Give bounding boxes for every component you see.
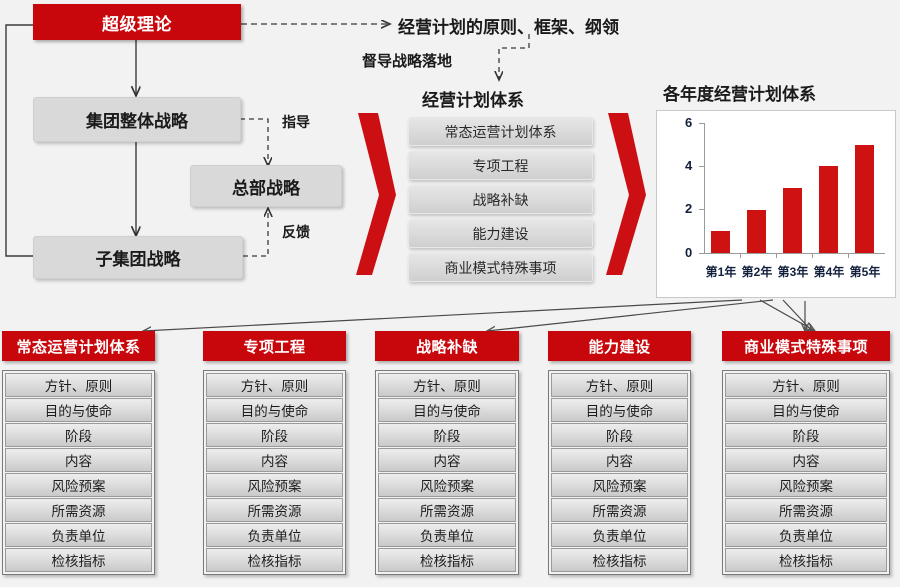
column-row[interactable]: 方针、原则: [725, 373, 887, 397]
column-row-label: 方针、原则: [586, 375, 654, 395]
column-row-label: 风险预案: [593, 475, 647, 495]
column-row-label: 负责单位: [420, 525, 474, 545]
column-row-label: 风险预案: [779, 475, 833, 495]
y-tick-mark: [699, 209, 704, 210]
column-row[interactable]: 所需资源: [551, 498, 688, 522]
plan-item[interactable]: 商业模式特殊事项: [408, 253, 593, 282]
column-row[interactable]: 所需资源: [378, 498, 516, 522]
column-row[interactable]: 目的与使命: [5, 398, 152, 422]
column-row[interactable]: 方针、原则: [206, 373, 343, 397]
column-header-label: 能力建设: [588, 336, 650, 357]
column-row-label: 检核指标: [248, 550, 302, 570]
super-theory-box[interactable]: 超级理论: [33, 4, 241, 40]
column-row[interactable]: 目的与使命: [206, 398, 343, 422]
column-row-label: 负责单位: [248, 525, 302, 545]
y-tick-label: 2: [685, 201, 692, 216]
hq-strategy-label: 总部战略: [232, 174, 300, 199]
column-header-label: 商业模式特殊事项: [744, 336, 868, 357]
column-row-label: 负责单位: [593, 525, 647, 545]
detail-column-0: 常态运营计划体系 方针、原则 目的与使命 阶段 内容 风险预案 所需资源 负责单…: [2, 331, 155, 575]
plan-system-title: 经营计划体系: [422, 86, 524, 111]
y-tick-mark: [699, 253, 704, 254]
column-row-label: 所需资源: [779, 500, 833, 520]
column-row-label: 负责单位: [52, 525, 106, 545]
y-tick-label: 6: [685, 115, 692, 130]
column-row[interactable]: 阶段: [378, 423, 516, 447]
column-row[interactable]: 检核指标: [378, 548, 516, 572]
column-row[interactable]: 方针、原则: [551, 373, 688, 397]
column-row[interactable]: 所需资源: [725, 498, 887, 522]
plan-item-label: 常态运营计划体系: [445, 122, 557, 142]
column-row-label: 所需资源: [248, 500, 302, 520]
x-tick-label: 第1年: [703, 263, 739, 280]
column-row-label: 阶段: [261, 425, 288, 445]
column-row[interactable]: 目的与使命: [378, 398, 516, 422]
chart-title: 各年度经营计划体系: [663, 80, 816, 105]
x-tick-label: 第3年: [775, 263, 811, 280]
column-row-label: 内容: [793, 450, 820, 470]
column-header[interactable]: 专项工程: [203, 331, 346, 361]
bar-year-2: [747, 210, 766, 253]
column-row[interactable]: 风险预案: [206, 473, 343, 497]
column-row-label: 阶段: [793, 425, 820, 445]
y-tick-label: 4: [685, 158, 692, 173]
y-tick-label: 0: [685, 245, 692, 260]
column-row[interactable]: 检核指标: [725, 548, 887, 572]
x-tick-label: 第5年: [847, 263, 883, 280]
column-header[interactable]: 战略补缺: [375, 331, 519, 361]
column-row[interactable]: 风险预案: [378, 473, 516, 497]
plan-item-label: 商业模式特殊事项: [445, 258, 557, 278]
column-row[interactable]: 内容: [551, 448, 688, 472]
column-body: 方针、原则 目的与使命 阶段 内容 风险预案 所需资源 负责单位 检核指标: [2, 370, 155, 575]
x-tick-label: 第4年: [811, 263, 847, 280]
column-row[interactable]: 风险预案: [5, 473, 152, 497]
column-header-label: 常态运营计划体系: [16, 336, 140, 357]
detail-column-1: 专项工程 方针、原则 目的与使命 阶段 内容 风险预案 所需资源 负责单位 检核…: [203, 331, 346, 575]
plan-item[interactable]: 专项工程: [408, 151, 593, 180]
diagram-canvas: 超级理论 经营计划的原则、框架、纲领 督导战略落地 经营计划体系 集团整体战略 …: [0, 0, 900, 587]
guide-label: 指导: [282, 112, 310, 132]
column-body: 方针、原则 目的与使命 阶段 内容 风险预案 所需资源 负责单位 检核指标: [722, 370, 890, 575]
column-row-label: 方针、原则: [772, 375, 840, 395]
column-header-label: 战略补缺: [416, 336, 478, 357]
column-row-label: 检核指标: [593, 550, 647, 570]
x-axis-line: [704, 253, 885, 254]
supervise-text: 督导战略落地: [362, 50, 452, 71]
column-row-label: 负责单位: [779, 525, 833, 545]
x-tick-mark: [848, 254, 849, 258]
column-row-label: 目的与使命: [772, 400, 840, 420]
column-row-label: 阶段: [434, 425, 461, 445]
principle-text: 经营计划的原则、框架、纲领: [398, 13, 619, 38]
y-tick-mark: [699, 123, 704, 124]
hq-strategy-box[interactable]: 总部战略: [190, 165, 342, 207]
column-row[interactable]: 内容: [5, 448, 152, 472]
column-row[interactable]: 目的与使命: [725, 398, 887, 422]
plan-item-label: 能力建设: [473, 224, 529, 244]
plan-items-list: 常态运营计划体系 专项工程 战略补缺 能力建设 商业模式特殊事项: [408, 117, 591, 282]
detail-column-2: 战略补缺 方针、原则 目的与使命 阶段 内容 风险预案 所需资源 负责单位 检核…: [375, 331, 519, 575]
group-strategy-label: 集团整体战略: [86, 107, 188, 132]
plan-item-label: 战略补缺: [473, 190, 529, 210]
plan-item[interactable]: 战略补缺: [408, 185, 593, 214]
column-row[interactable]: 风险预案: [725, 473, 887, 497]
column-row-label: 方针、原则: [241, 375, 309, 395]
column-body: 方针、原则 目的与使命 阶段 内容 风险预案 所需资源 负责单位 检核指标: [548, 370, 691, 575]
column-header[interactable]: 商业模式特殊事项: [722, 331, 890, 361]
column-row-label: 目的与使命: [241, 400, 309, 420]
column-row-label: 风险预案: [52, 475, 106, 495]
column-row[interactable]: 负责单位: [725, 523, 887, 547]
column-row-label: 内容: [606, 450, 633, 470]
column-row[interactable]: 内容: [378, 448, 516, 472]
column-row-label: 风险预案: [420, 475, 474, 495]
column-row-label: 阶段: [65, 425, 92, 445]
column-row-label: 目的与使命: [413, 400, 481, 420]
column-row[interactable]: 阶段: [725, 423, 887, 447]
column-row[interactable]: 检核指标: [206, 548, 343, 572]
plan-item-label: 专项工程: [473, 156, 529, 176]
x-tick-mark: [812, 254, 813, 258]
bar-year-4: [819, 166, 838, 253]
y-tick-mark: [699, 166, 704, 167]
y-axis-line: [704, 123, 705, 254]
column-row[interactable]: 检核指标: [5, 548, 152, 572]
column-row[interactable]: 负责单位: [5, 523, 152, 547]
column-row[interactable]: 检核指标: [551, 548, 688, 572]
column-body: 方针、原则 目的与使命 阶段 内容 风险预案 所需资源 负责单位 检核指标: [375, 370, 519, 575]
plan-item[interactable]: 能力建设: [408, 219, 593, 248]
plan-item[interactable]: 常态运营计划体系: [408, 117, 593, 146]
column-row-label: 风险预案: [248, 475, 302, 495]
column-row-label: 检核指标: [420, 550, 474, 570]
column-row-label: 检核指标: [779, 550, 833, 570]
column-row-label: 目的与使命: [45, 400, 113, 420]
x-tick-mark: [776, 254, 777, 258]
column-row-label: 阶段: [606, 425, 633, 445]
column-row[interactable]: 负责单位: [206, 523, 343, 547]
column-row-label: 方针、原则: [45, 375, 113, 395]
column-row-label: 内容: [65, 450, 92, 470]
column-header[interactable]: 能力建设: [548, 331, 691, 361]
sub-group-strategy-box[interactable]: 子集团战略: [33, 236, 243, 279]
x-tick-mark: [740, 254, 741, 258]
column-row[interactable]: 阶段: [551, 423, 688, 447]
column-row-label: 内容: [261, 450, 288, 470]
column-row[interactable]: 所需资源: [5, 498, 152, 522]
super-theory-label: 超级理论: [102, 10, 172, 35]
column-row-label: 所需资源: [52, 500, 106, 520]
column-row[interactable]: 方针、原则: [5, 373, 152, 397]
column-row[interactable]: 方针、原则: [378, 373, 516, 397]
chart-frame: 6 4 2 0 第1年 第2年 第3年 第4年 第5年: [656, 110, 896, 298]
detail-column-3: 能力建设 方针、原则 目的与使命 阶段 内容 风险预案 所需资源 负责单位 检核…: [548, 331, 691, 575]
column-row-label: 方针、原则: [413, 375, 481, 395]
column-row-label: 所需资源: [420, 500, 474, 520]
sub-group-strategy-label: 子集团战略: [96, 245, 181, 270]
column-body: 方针、原则 目的与使命 阶段 内容 风险预案 所需资源 负责单位 检核指标: [203, 370, 346, 575]
detail-column-4: 商业模式特殊事项 方针、原则 目的与使命 阶段 内容 风险预案 所需资源 负责单…: [722, 331, 890, 575]
bar-year-5: [855, 145, 874, 253]
column-header-label: 专项工程: [243, 336, 305, 357]
column-row[interactable]: 负责单位: [378, 523, 516, 547]
column-row-label: 目的与使命: [586, 400, 654, 420]
column-row-label: 所需资源: [593, 500, 647, 520]
column-row[interactable]: 阶段: [5, 423, 152, 447]
column-row[interactable]: 内容: [725, 448, 887, 472]
feedback-label: 反馈: [282, 222, 310, 242]
column-header[interactable]: 常态运营计划体系: [2, 331, 155, 361]
x-tick-label: 第2年: [739, 263, 775, 280]
column-row[interactable]: 内容: [206, 448, 343, 472]
column-row-label: 内容: [434, 450, 461, 470]
column-row[interactable]: 阶段: [206, 423, 343, 447]
group-strategy-box[interactable]: 集团整体战略: [33, 97, 241, 142]
bar-year-3: [783, 188, 802, 253]
column-row[interactable]: 负责单位: [551, 523, 688, 547]
column-row[interactable]: 所需资源: [206, 498, 343, 522]
bar-year-1: [711, 231, 730, 253]
column-row-label: 检核指标: [52, 550, 106, 570]
column-row[interactable]: 风险预案: [551, 473, 688, 497]
column-row[interactable]: 目的与使命: [551, 398, 688, 422]
